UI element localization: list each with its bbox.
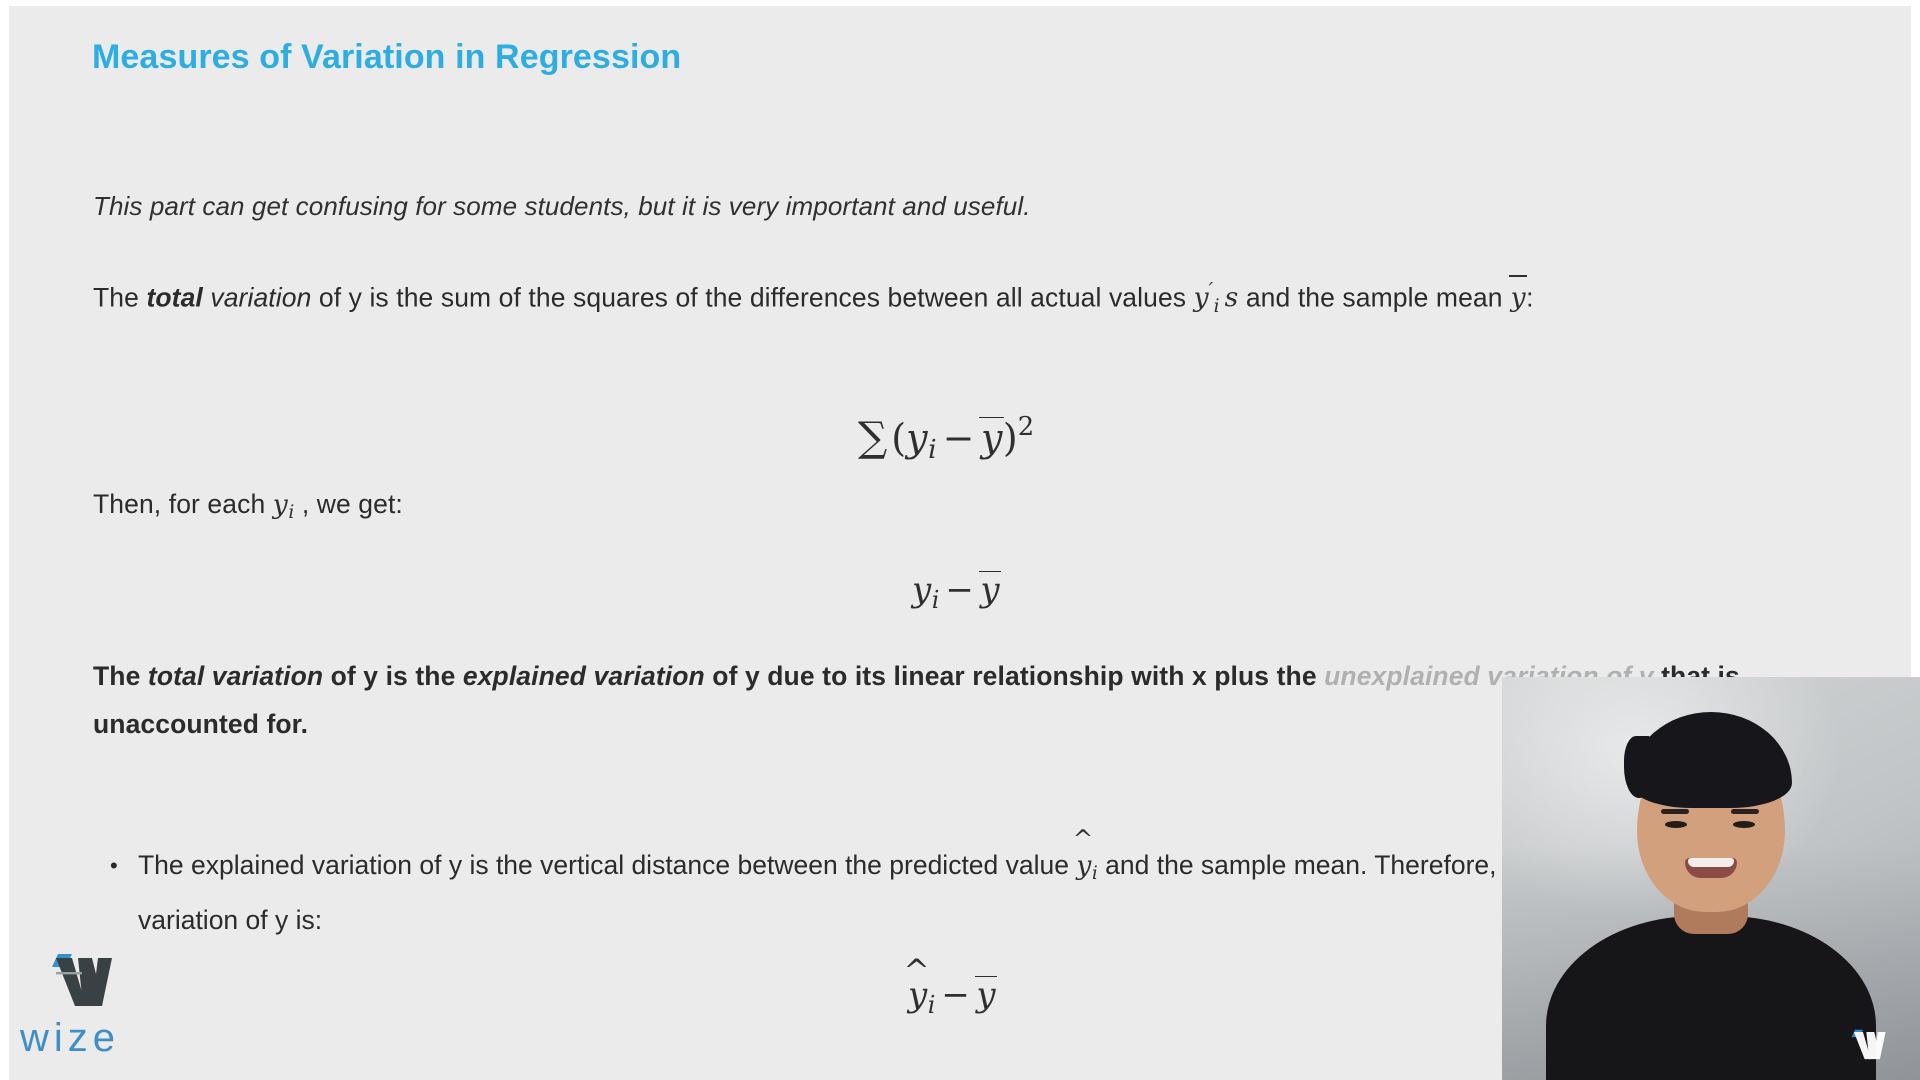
para-italic-variation: variation: [203, 282, 312, 312]
formula-ybar: y: [980, 416, 1002, 460]
bold-italic-explained-variation: explained variation: [463, 661, 705, 691]
explained-variation-bullets: • The explained variation of y is the ve…: [104, 842, 1724, 944]
formula3-minus: −: [935, 975, 976, 1015]
presenter-eye-right: [1733, 821, 1755, 828]
then-seg-1: Then, for each: [93, 489, 273, 519]
wize-watermark-icon: [1846, 1024, 1898, 1066]
formula-explained-variation: yi−y: [908, 975, 996, 1019]
para-seg-5: and the sample mean: [1238, 282, 1510, 312]
formula2-y: y: [912, 570, 931, 610]
presenter-eyebrow-right: [1731, 809, 1759, 814]
bold-seg-5: of y due to its linear relationship with…: [705, 661, 1324, 691]
math-s-glyph: s: [1220, 282, 1239, 313]
formula-total-variation: ∑(yi−y)2: [858, 412, 1034, 465]
bullet-seg-1: The explained variation of y is the vert…: [138, 850, 1076, 880]
para-seg-4: of y is the sum of the squares of the di…: [311, 282, 1193, 312]
para-seg-6: :: [1526, 282, 1533, 312]
para-bold-total: total: [146, 282, 202, 312]
slide-canvas: Measures of Variation in Regression This…: [0, 0, 1920, 1080]
math-ybar-glyph: y: [1510, 274, 1526, 322]
presenter-mouth: [1685, 858, 1737, 878]
formula2-ybar: y: [980, 570, 1000, 610]
math-y-prime-i: y′is: [1194, 282, 1239, 313]
wize-wordmark: wize: [20, 1016, 120, 1061]
wize-w-mark-icon: [42, 950, 134, 1012]
presenter-video-overlay[interactable]: [1502, 677, 1920, 1080]
formula-y: y: [906, 416, 927, 460]
formula-exponent: 2: [1018, 412, 1034, 442]
math-y-hat-inline: yi: [1076, 850, 1097, 881]
formula-deviation: yi−y: [912, 570, 1000, 614]
math-y-glyph: y: [1194, 282, 1209, 313]
math-i-subscript: i: [1213, 296, 1220, 317]
paren-close: ): [1003, 416, 1018, 460]
para-seg-1: The: [93, 282, 146, 312]
formula3-yhat: y: [908, 975, 927, 1015]
bold-seg-3: of y is the: [323, 661, 463, 691]
list-item: • The explained variation of y is the ve…: [104, 842, 1724, 944]
math-y-glyph-2: y: [273, 489, 288, 520]
bullet-point-icon: •: [104, 842, 138, 889]
paren-open: (: [891, 416, 906, 460]
bold-italic-total-variation: total variation: [148, 661, 323, 691]
math-yhat-glyph: y: [1076, 842, 1091, 889]
then-for-each-paragraph: Then, for each yi , we get:: [93, 480, 403, 537]
formula3-ybar: y: [976, 975, 996, 1015]
presenter-eyebrow-left: [1661, 809, 1689, 814]
total-variation-paragraph: The total variation of y is the sum of t…: [93, 266, 1753, 331]
formula2-minus: −: [939, 570, 980, 610]
presenter-eye-left: [1665, 821, 1687, 828]
list-item-text: The explained variation of y is the vert…: [138, 842, 1724, 944]
then-seg-2: , we get:: [294, 489, 403, 519]
formula-y-sub: i: [928, 434, 937, 465]
math-y-i-inline: yi: [273, 489, 295, 520]
intro-paragraph: This part can get confusing for some stu…: [93, 182, 1031, 230]
sigma-icon: ∑: [858, 413, 891, 461]
minus-operator: −: [937, 416, 981, 460]
wize-logo: wize: [20, 950, 160, 1062]
bold-seg-1: The: [93, 661, 148, 691]
math-y-bar-inline: y: [1510, 282, 1526, 313]
slide-title: Measures of Variation in Regression: [92, 38, 681, 77]
